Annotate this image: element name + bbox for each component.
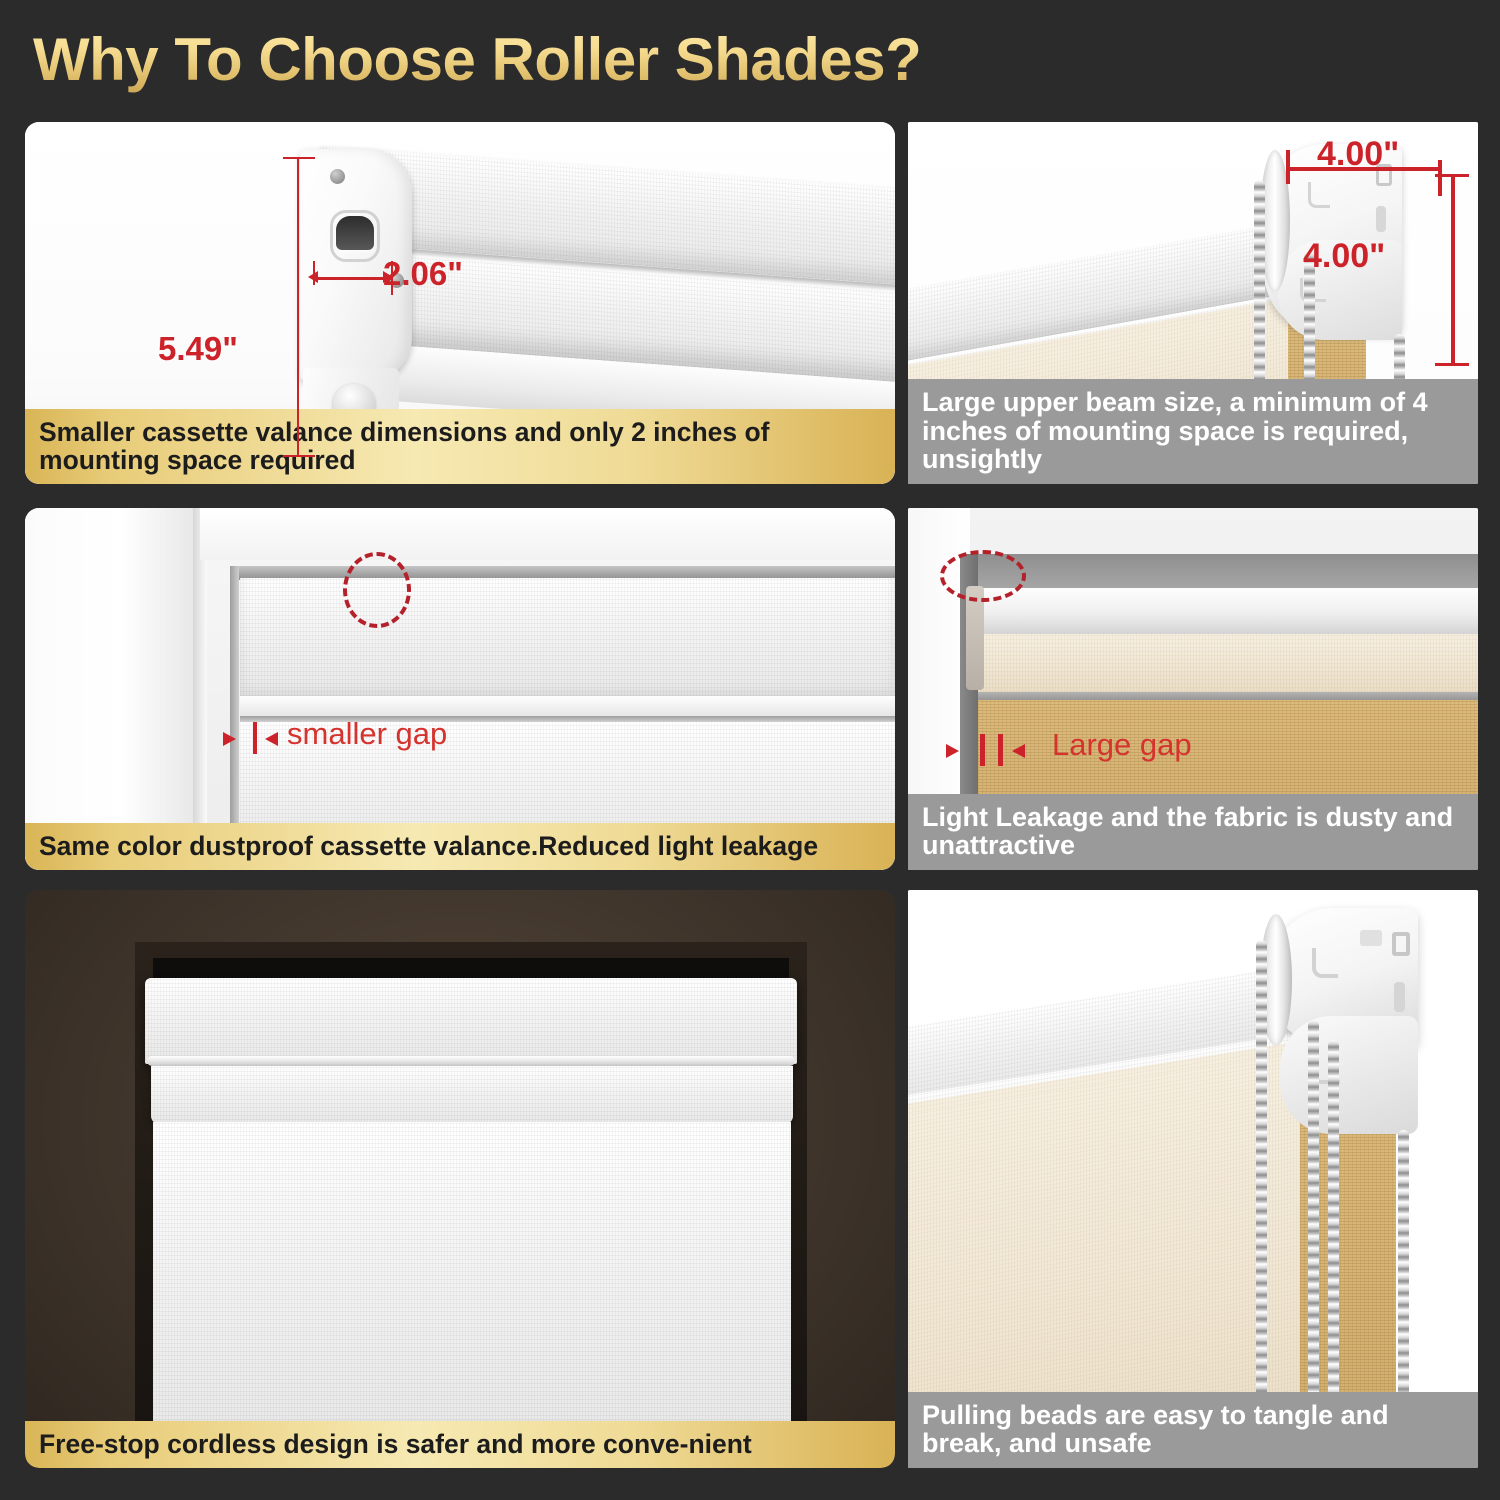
smaller-gap-photo: smaller gap <box>25 508 895 870</box>
gap-label: smaller gap <box>287 716 447 752</box>
highlight-ellipse <box>940 550 1026 602</box>
gap-arrow-right-icon <box>223 732 236 746</box>
bead-chain-photo <box>908 890 1478 1468</box>
bead-chain <box>1256 940 1267 1468</box>
gap-arrow-right-icon <box>946 744 959 758</box>
beam-width-label: 4.00" <box>1317 135 1399 174</box>
panel-caption: Free-stop cordless design is safer and m… <box>25 1421 895 1468</box>
panel-caption: Large upper beam size, a minimum of 4 in… <box>908 379 1478 484</box>
height-dimension-label: 5.49" <box>158 330 238 368</box>
panel-light-leakage: Large gap Light Leakage and the fabric i… <box>908 508 1478 870</box>
panel-caption: Light Leakage and the fabric is dusty an… <box>908 794 1478 870</box>
panel-smaller-cassette: 5.49" 2.06" Smaller cassette valance dim… <box>25 122 895 484</box>
beam-height-label: 4.00" <box>1303 237 1385 276</box>
panel-caption: Smaller cassette valance dimensions and … <box>25 409 895 484</box>
room-window-photo <box>25 890 895 1468</box>
panel-large-upper-beam: 4.00" 4.00" Large upper beam size, a min… <box>908 122 1478 484</box>
gap-arrow-left-icon <box>1012 744 1025 758</box>
width-dimension-label: 2.06" <box>383 255 463 293</box>
gap-label: Large gap <box>1052 727 1192 763</box>
panel-pulling-beads: Pulling beads are easy to tangle and bre… <box>908 890 1478 1468</box>
panel-free-stop-cordless: Free-stop cordless design is safer and m… <box>25 890 895 1468</box>
panel-caption: Same color dustproof cassette valance.Re… <box>25 823 895 870</box>
gap-arrow-left-icon <box>265 732 278 746</box>
highlight-ellipse <box>343 552 411 628</box>
panel-dustproof-cassette: smaller gap Same color dustproof cassett… <box>25 508 895 870</box>
panel-caption: Pulling beads are easy to tangle and bre… <box>908 1392 1478 1468</box>
page-title: Why To Choose Roller Shades? <box>33 22 1033 97</box>
